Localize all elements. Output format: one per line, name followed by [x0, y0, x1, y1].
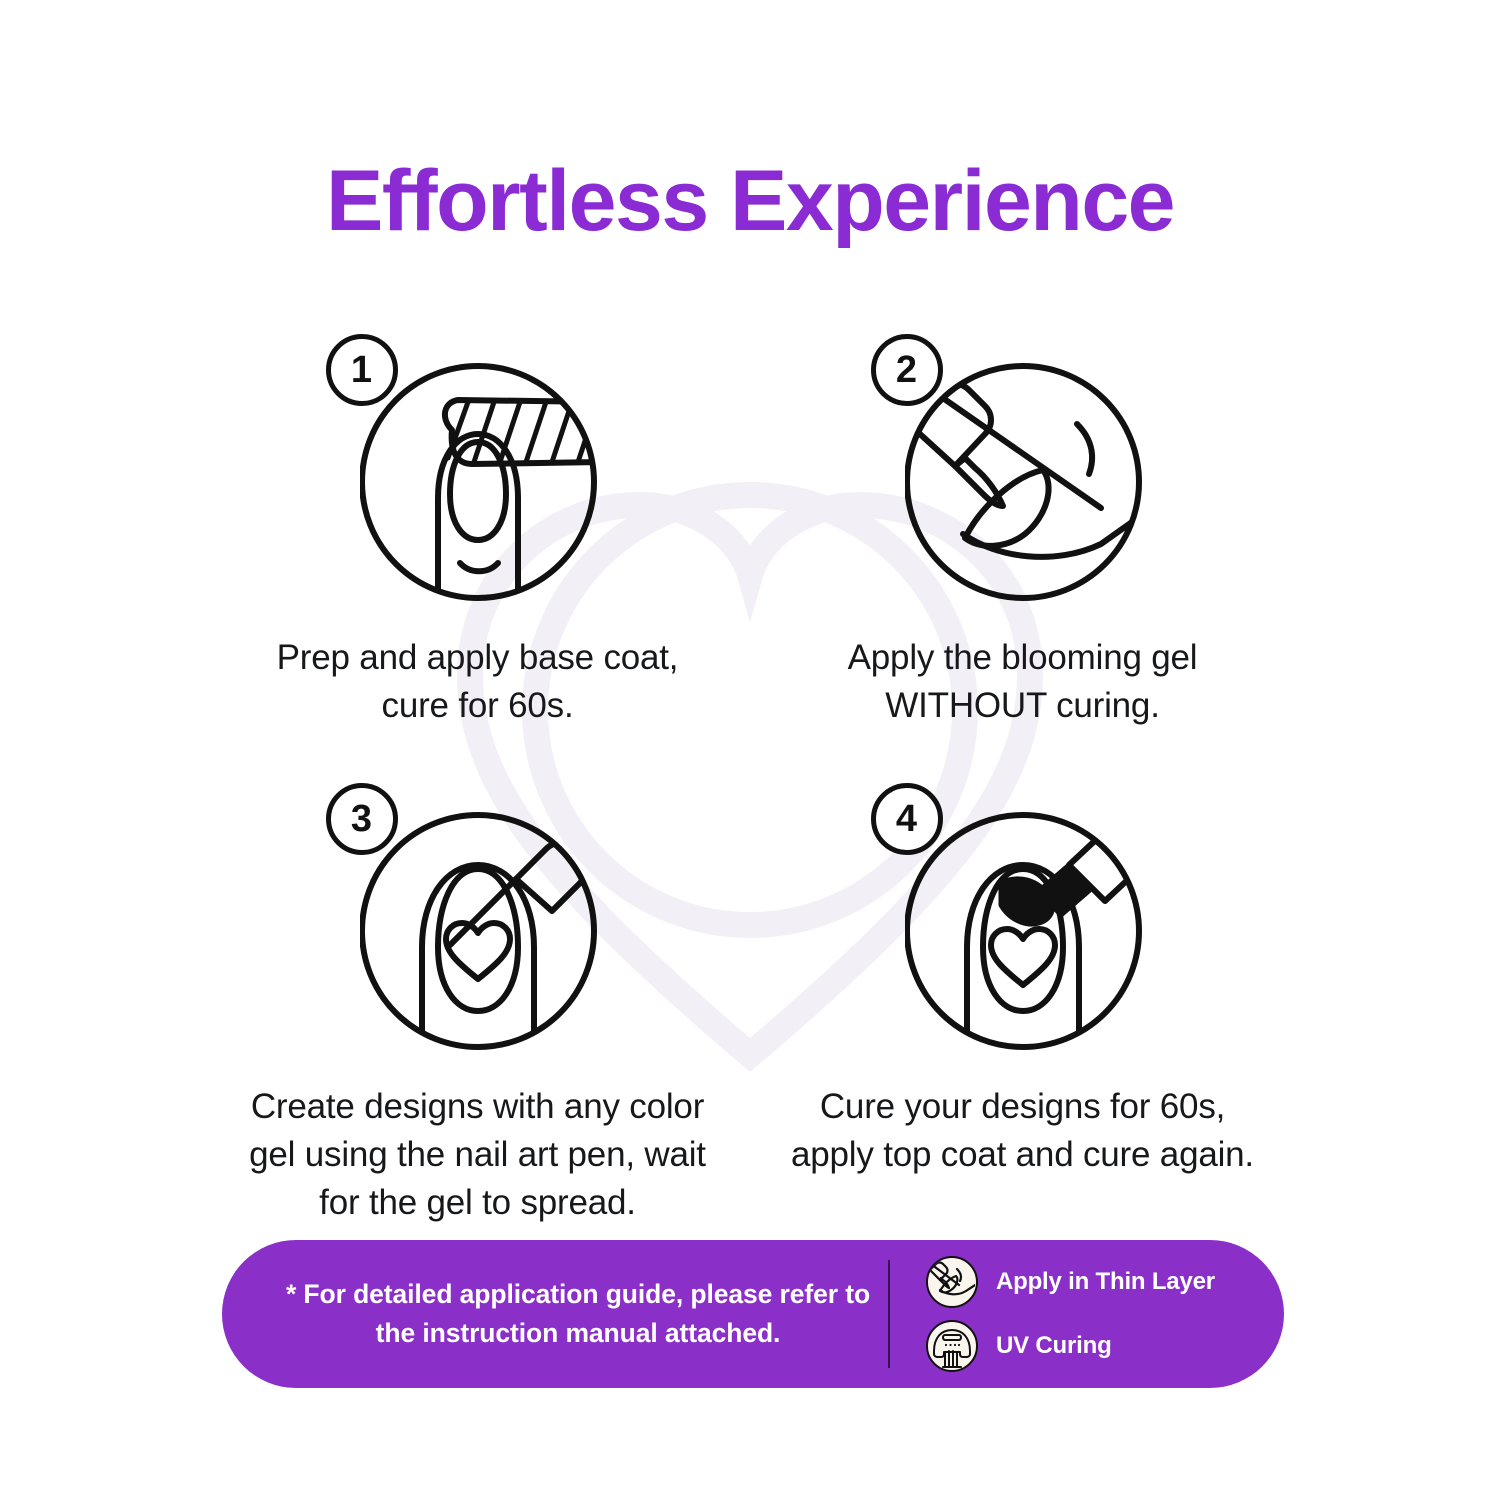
step-1-caption: Prep and apply base coat, cure for 60s.: [243, 634, 713, 731]
step-4: 4: [750, 779, 1295, 1228]
step-3-caption: Create designs with any color gel using …: [243, 1083, 713, 1228]
step-2-illustration-wrap: 2: [863, 330, 1183, 620]
step-4-illustration-wrap: 4: [863, 779, 1183, 1069]
thin-layer-brush-icon: [926, 1256, 978, 1308]
footer-banner: * For detailed application guide, please…: [222, 1240, 1284, 1388]
badge-apply-in-thin-layer: Apply in Thin Layer: [926, 1256, 1215, 1308]
step-1: 1: [205, 330, 750, 731]
gel-brush-on-nail-icon: [905, 358, 1145, 608]
step-2-caption: Apply the blooming gel WITHOUT curing.: [788, 634, 1258, 731]
page-title: Effortless Experience: [0, 152, 1500, 251]
badge-label-uv-curing: UV Curing: [996, 1332, 1112, 1360]
step-4-caption: Cure your designs for 60s, apply top coa…: [788, 1083, 1258, 1180]
step-3-number-badge: 3: [326, 783, 398, 855]
nail-file-on-fingertip-icon: [360, 358, 600, 608]
steps-grid: 1: [205, 330, 1295, 1227]
step-1-illustration-wrap: 1: [318, 330, 638, 620]
footer-divider: [888, 1260, 890, 1368]
top-coat-brush-over-heart-icon: [905, 807, 1145, 1057]
badge-label-thin-layer: Apply in Thin Layer: [996, 1268, 1215, 1296]
step-1-number-badge: 1: [326, 334, 398, 406]
footer-note: * For detailed application guide, please…: [222, 1275, 882, 1353]
nail-art-pen-drawing-heart-icon: [360, 807, 600, 1057]
step-2: 2: [750, 330, 1295, 731]
footer-badges: Apply in Thin Layer: [896, 1256, 1215, 1372]
uv-lamp-icon: [926, 1320, 978, 1372]
step-2-number-badge: 2: [871, 334, 943, 406]
badge-uv-curing: UV Curing: [926, 1320, 1215, 1372]
step-4-number-badge: 4: [871, 783, 943, 855]
step-3-illustration-wrap: 3: [318, 779, 638, 1069]
step-3: 3 Create de: [205, 779, 750, 1228]
